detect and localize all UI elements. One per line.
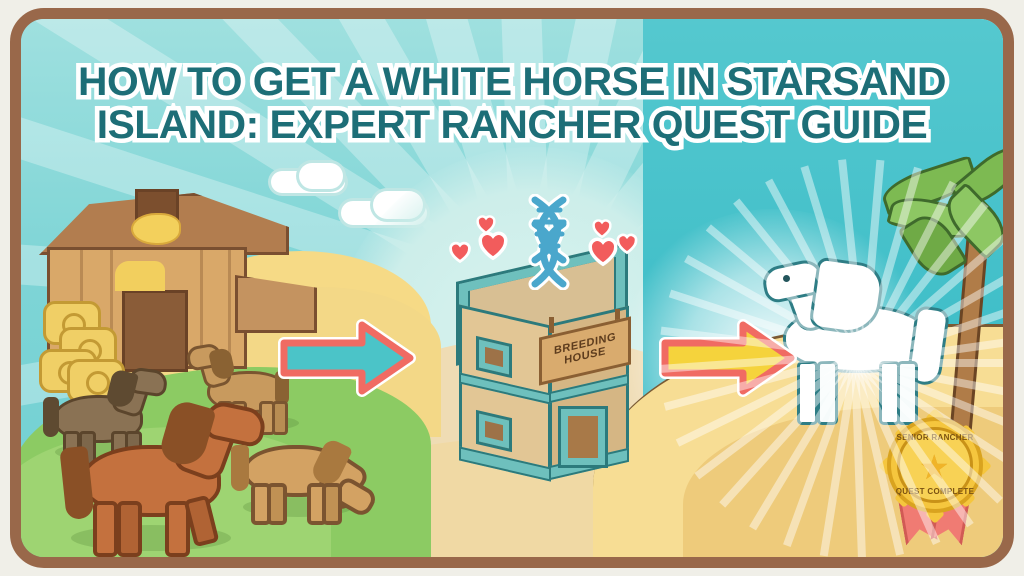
arrow-farm-to-breeding <box>276 315 418 401</box>
title-line-1: How to Get a White Horse in Starsand <box>21 61 1003 104</box>
heart-icon <box>473 211 499 236</box>
illustration-scene: BREEDING HOUSE <box>21 19 1003 557</box>
image-frame: BREEDING HOUSE <box>10 8 1014 568</box>
hay-bundle <box>131 213 181 245</box>
heart-icon <box>589 215 615 240</box>
badge-bottom-text: QUEST COMPLETE <box>887 487 983 496</box>
title-line-2: Island: Expert Rancher Quest Guide <box>21 104 1003 147</box>
heart-icon <box>445 237 475 265</box>
building-door <box>561 409 605 465</box>
thumbnail-page: BREEDING HOUSE <box>0 0 1024 576</box>
horse-grazing <box>235 429 363 519</box>
heart-icon <box>613 229 641 256</box>
horse-chestnut <box>61 401 251 547</box>
hay-in-door <box>115 261 165 291</box>
breeding-house-building: BREEDING HOUSE <box>445 271 635 486</box>
barn-door <box>122 290 188 372</box>
sign-post <box>549 317 554 333</box>
dna-helix-icon <box>521 194 577 290</box>
page-title: How to Get a White Horse in Starsand Isl… <box>21 61 1003 147</box>
